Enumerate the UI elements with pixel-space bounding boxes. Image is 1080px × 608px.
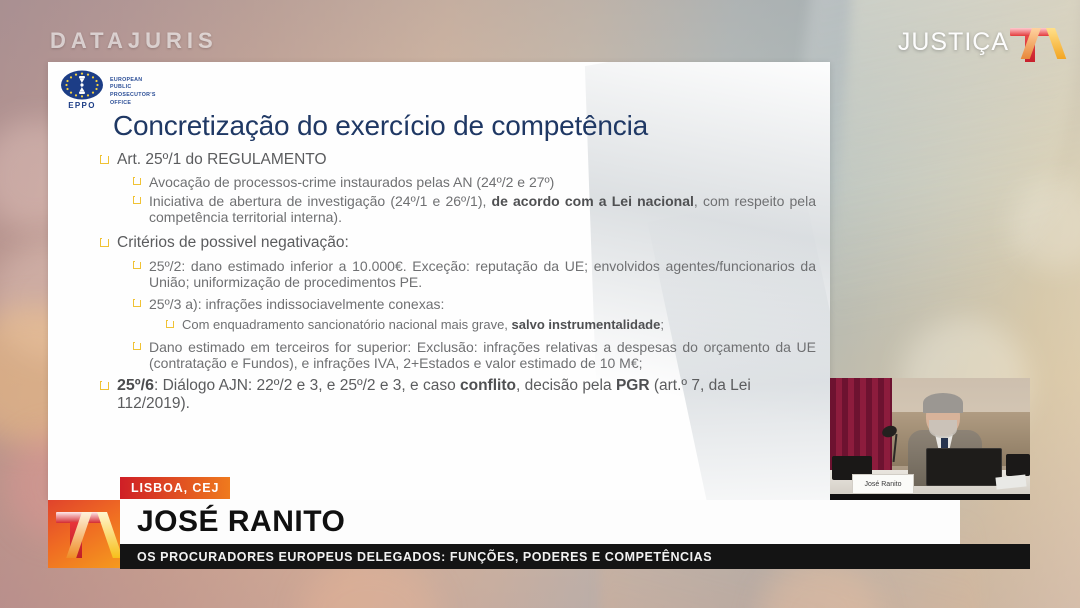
topic-bar: OS PROCURADORES EUROPEUS DELEGADOS: FUNÇ…: [120, 544, 1030, 569]
slide-title: Concretização do exercício de competênci…: [113, 110, 648, 142]
laptop-center: [926, 448, 1002, 486]
topic-text: OS PROCURADORES EUROPEUS DELEGADOS: FUNÇ…: [137, 550, 712, 564]
slide-bullet-list: Art. 25º/1 do REGULAMENTO Avocação de pr…: [100, 151, 816, 418]
bullet-text: Com enquadramento sancionatório nacional…: [182, 317, 664, 332]
bullet-text: Critérios de possivel negativação:: [117, 234, 349, 252]
bullet-text-part: Com enquadramento sancionatório nacional…: [182, 317, 512, 332]
laptop-right: [1006, 454, 1030, 476]
eppo-logo: EPPO EUROPEAN PUBLIC PROSECUTOR'S OFFICE: [60, 70, 156, 110]
ta-channel-logo: [48, 500, 120, 568]
bullet-level2: Iniciativa de abertura de investigação (…: [133, 193, 816, 225]
speaker-video-inset[interactable]: José Ranito: [830, 378, 1030, 500]
presentation-slide: EPPO EUROPEAN PUBLIC PROSECUTOR'S OFFICE…: [48, 62, 830, 500]
bullet-text-bold: 25º/6: [117, 377, 154, 394]
bullet-text-part: : Diálogo AJN: 22º/2 e 3, e 25º/2 e 3, e…: [154, 377, 460, 394]
bullet-text-bold: conflito: [460, 377, 516, 394]
bullet-level3: Com enquadramento sancionatório nacional…: [166, 317, 816, 332]
eppo-fullname: EUROPEAN PUBLIC PROSECUTOR'S OFFICE: [110, 77, 156, 107]
bullet-marker-icon: [133, 342, 141, 350]
speaker-name: JOSÉ RANITO: [137, 505, 345, 539]
bullet-text: 25º/6: Diálogo AJN: 22º/2 e 3, e 25º/2 e…: [117, 377, 816, 413]
bullet-text: Iniciativa de abertura de investigação (…: [149, 193, 816, 225]
speaker-nameplate: José Ranito: [852, 474, 914, 494]
bullet-marker-icon: [133, 299, 141, 307]
eppo-name-line-4: OFFICE: [110, 100, 156, 108]
speaker-name-bar: JOSÉ RANITO: [120, 500, 960, 544]
microphone-icon: [882, 426, 908, 460]
bullet-level2: 25º/3 a): infrações indissociavelmente c…: [133, 296, 816, 312]
justica-ta-logo: JUSTIÇA: [898, 25, 1068, 59]
datajuris-watermark: DATAJURIS: [50, 28, 218, 54]
bullet-text: Dano estimado em terceiros for superior:…: [149, 339, 816, 371]
bullet-text-bold: salvo instrumentalidade: [512, 317, 661, 332]
bullet-level1: Art. 25º/1 do REGULAMENTO: [100, 151, 816, 169]
bullet-marker-icon: [133, 261, 141, 269]
bullet-marker-icon: [100, 238, 109, 247]
bullet-level1: 25º/6: Diálogo AJN: 22º/2 e 3, e 25º/2 e…: [100, 377, 816, 413]
eppo-name-line-1: EUROPEAN: [110, 77, 156, 85]
bullet-level1: Critérios de possivel negativação:: [100, 234, 816, 252]
bullet-text: 25º/3 a): infrações indissociavelmente c…: [149, 296, 444, 312]
bullet-text-part: Iniciativa de abertura de investigação (…: [149, 193, 492, 209]
bullet-marker-icon: [166, 320, 174, 328]
location-badge: LISBOA, CEJ: [120, 477, 230, 499]
eppo-emblem-icon: EPPO: [60, 70, 104, 110]
justica-wordmark-text: JUSTIÇA: [898, 28, 1009, 57]
bullet-text: Avocação de processos-crime instaurados …: [149, 174, 554, 190]
bullet-marker-icon: [133, 177, 141, 185]
nameplate-text: José Ranito: [865, 481, 902, 488]
eppo-abbrev: EPPO: [60, 101, 104, 110]
bullet-marker-icon: [100, 155, 109, 164]
bullet-text: Art. 25º/1 do REGULAMENTO: [117, 151, 327, 169]
bullet-marker-icon: [100, 381, 109, 390]
bullet-marker-icon: [133, 196, 141, 204]
eppo-name-line-3: PROSECUTOR'S: [110, 92, 156, 100]
bullet-level2: Avocação de processos-crime instaurados …: [133, 174, 816, 190]
eppo-name-line-2: PUBLIC: [110, 84, 156, 92]
bullet-text: 25º/2: dano estimado inferior a 10.000€.…: [149, 258, 816, 290]
bullet-text-part: ;: [660, 317, 664, 332]
bullet-text-bold: de acordo com a Lei nacional: [492, 193, 694, 209]
bullet-level2: 25º/2: dano estimado inferior a 10.000€.…: [133, 258, 816, 290]
ta-monogram-icon: [56, 512, 114, 558]
bullet-text-part: , decisão pela: [516, 377, 616, 394]
ta-monogram-icon: [1010, 25, 1068, 59]
bullet-level2: Dano estimado em terceiros for superior:…: [133, 339, 816, 371]
bullet-text-bold: PGR: [616, 377, 650, 394]
